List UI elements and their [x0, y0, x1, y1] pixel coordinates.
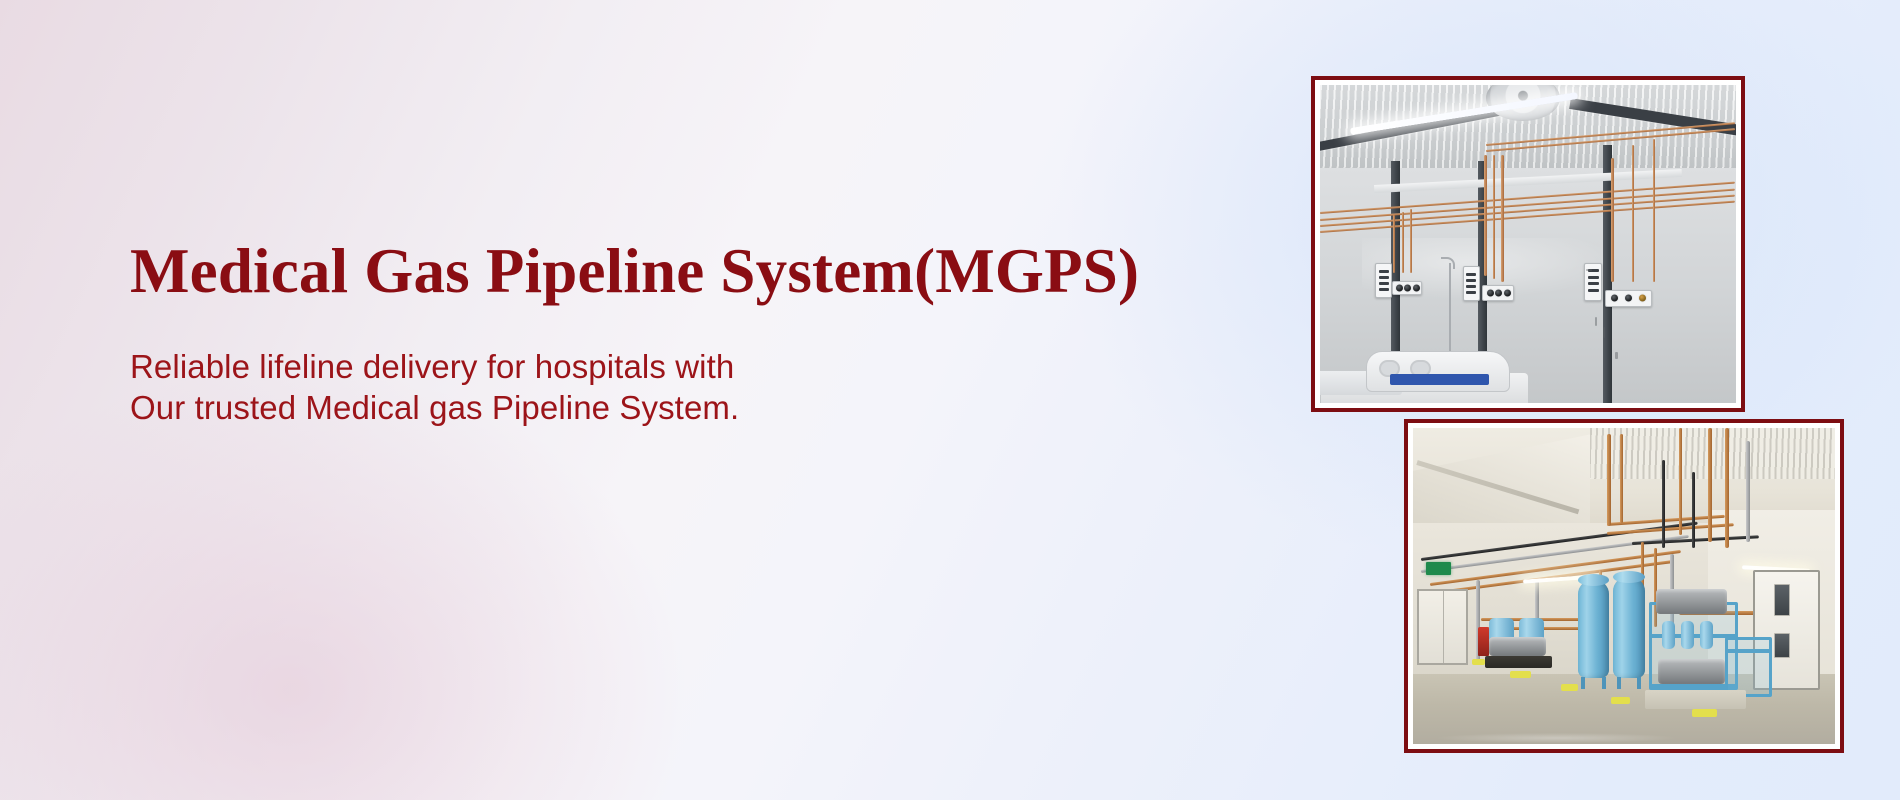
plant-manifold-frame	[1725, 637, 1771, 697]
floor-marker-2	[1510, 671, 1531, 678]
hero-banner: Medical Gas Pipeline System(MGPS) Reliab…	[0, 0, 1900, 800]
plant-dryer-column-2	[1681, 621, 1695, 649]
photo-hospital-ward-image	[1320, 85, 1736, 403]
copper-drop-1	[1393, 215, 1395, 272]
copper-drop-7	[1611, 158, 1613, 282]
air-receiver-vessel-1	[1578, 580, 1610, 678]
page-title: Medical Gas Pipeline System(MGPS)	[130, 238, 1270, 304]
plant-riser-dark-1	[1662, 460, 1665, 548]
copper-drop-6	[1501, 155, 1503, 282]
gas-control-panel-2	[1463, 266, 1480, 301]
hospital-bed	[1320, 330, 1528, 403]
hospital-bed-siderail	[1366, 351, 1510, 392]
plant-ceiling-deck	[1590, 428, 1835, 479]
floor-marker-5	[1692, 709, 1717, 717]
copper-drop-3	[1410, 209, 1412, 273]
copper-drop-2	[1402, 212, 1404, 272]
hero-subtitle-line-2: Our trusted Medical gas Pipeline System.	[130, 387, 1270, 428]
plant-pump-unit	[1658, 659, 1726, 684]
plant-riser-dark-2	[1692, 472, 1695, 548]
emergency-exit-sign	[1426, 562, 1451, 575]
gas-control-panel-1	[1375, 263, 1392, 298]
wall-mark-3	[1615, 352, 1618, 359]
plant-dryer-column-3	[1700, 621, 1714, 649]
gas-outlet-block-1	[1392, 281, 1423, 296]
plant-dryer-column-1	[1662, 621, 1676, 649]
gas-outlet-block-3	[1605, 290, 1652, 307]
plant-riser-steel-1	[1746, 441, 1749, 542]
plant-riser-copper-4	[1708, 428, 1711, 542]
hero-subtitle: Reliable lifeline delivery for hospitals…	[130, 346, 1270, 429]
copper-drop-4	[1484, 155, 1486, 276]
plant-riser-copper-2	[1620, 434, 1623, 522]
photo-medical-gas-plant-room	[1404, 419, 1844, 753]
photo-hospital-ward-pipeline	[1311, 76, 1745, 412]
plant-double-door	[1417, 589, 1468, 665]
photo-plant-room-image	[1413, 428, 1835, 744]
plant-riser-copper-5	[1725, 428, 1728, 548]
plant-compressor-plinth	[1485, 656, 1553, 669]
plant-riser-copper-3	[1679, 428, 1682, 535]
floor-marker-4	[1611, 697, 1630, 705]
gas-outlet-block-2	[1482, 285, 1514, 300]
floor-marker-3	[1561, 684, 1578, 691]
iv-pole-hook-icon	[1441, 257, 1455, 269]
hero-text-block: Medical Gas Pipeline System(MGPS) Reliab…	[130, 238, 1270, 429]
wall-mark-2	[1603, 327, 1605, 338]
plant-compressor-motor	[1489, 637, 1546, 656]
plant-riser-copper-1	[1607, 434, 1610, 526]
air-receiver-vessel-2	[1613, 577, 1645, 678]
wall-mark-1	[1595, 317, 1597, 326]
hero-subtitle-line-1: Reliable lifeline delivery for hospitals…	[130, 346, 1270, 387]
plant-compressor-unit	[1656, 589, 1728, 614]
plant-floor-sheen	[1438, 733, 1674, 743]
plant-skid-base-pad	[1645, 690, 1746, 709]
floor-marker-1	[1472, 659, 1485, 665]
copper-drop-9	[1653, 139, 1655, 282]
fire-extinguisher-icon	[1478, 627, 1488, 655]
